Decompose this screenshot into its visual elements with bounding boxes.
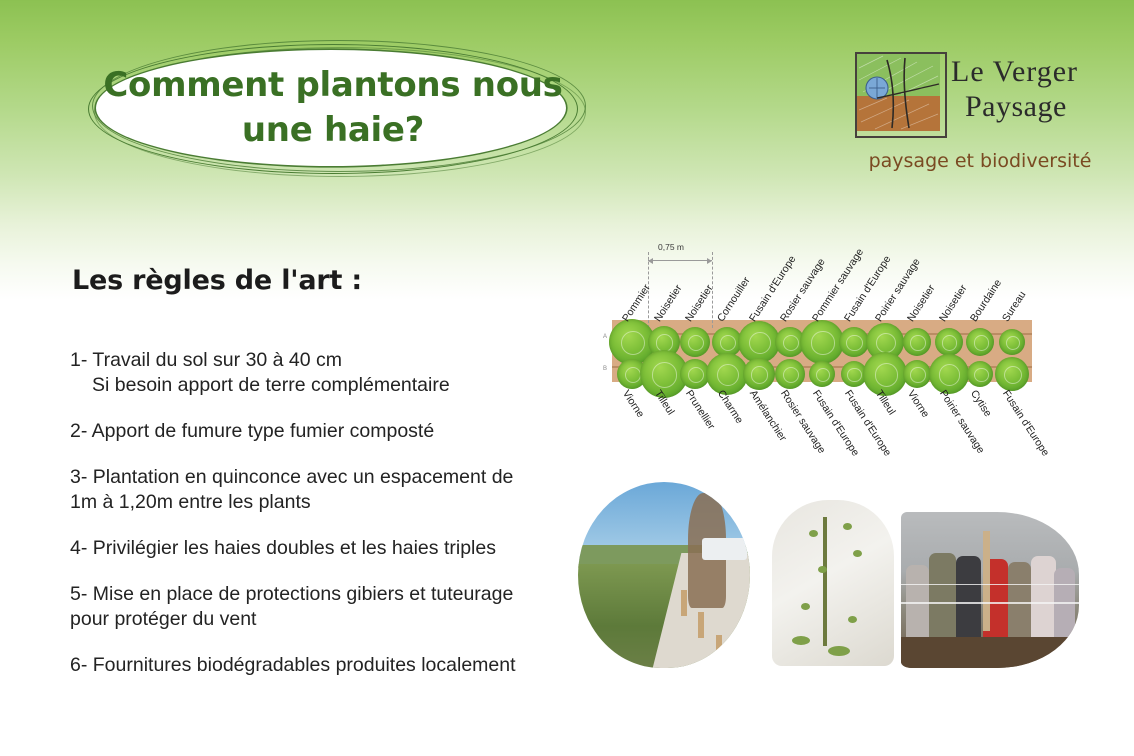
row-mark-a: A xyxy=(603,334,607,340)
photo3-fence-wire xyxy=(901,602,1079,604)
hedge-label-top: Noisetier xyxy=(937,283,970,324)
hedge-tree xyxy=(995,357,1029,391)
photo3-soil xyxy=(901,637,1079,668)
row-mark-b: B xyxy=(603,366,607,372)
brand-logo: Le Verger Paysage paysage et biodiversit… xyxy=(855,52,1105,192)
hedge-plan-diagram: A B 0,75 m PommierNoisetierNoisetierCorn… xyxy=(600,232,1060,482)
rule-item: 4- Privilégier les haies doubles et les … xyxy=(70,536,540,561)
rule-item: 6- Fournitures biodégradables produites … xyxy=(70,653,540,678)
hedge-label-top: Noisetier xyxy=(651,283,684,324)
rule-item: 2- Apport de fumure type fumier composté xyxy=(70,419,540,444)
photo2-foliage xyxy=(792,636,810,645)
hedge-tree xyxy=(706,353,748,395)
rule-main: 2- Apport de fumure type fumier composté xyxy=(70,420,434,442)
photo2-leaf xyxy=(848,616,857,623)
hedge-tree xyxy=(800,320,844,364)
logo-tagline: paysage et biodiversité xyxy=(855,150,1105,172)
hedge-tree xyxy=(903,360,931,388)
rule-main: 3- Plantation en quinconce avec un espac… xyxy=(70,466,513,513)
scale-label: 0,75 m xyxy=(658,242,684,252)
photo1-stake xyxy=(698,612,704,638)
hedge-tree xyxy=(967,361,993,387)
hedge-tree xyxy=(839,327,869,357)
hedge-label-bottom: Cytise xyxy=(968,388,994,419)
rule-main: 5- Mise en place de protections gibiers … xyxy=(70,583,513,630)
logo-orchard-svg xyxy=(857,54,940,131)
hedge-label-bottom: Viorne xyxy=(620,388,646,420)
rules-list: 1- Travail du sol sur 30 à 40 cm Si beso… xyxy=(70,348,540,699)
rule-item: 5- Mise en place de protections gibiers … xyxy=(70,582,540,632)
hedge-tree xyxy=(738,321,780,363)
hedge-tree xyxy=(903,328,931,356)
scale-arrow xyxy=(648,260,712,261)
logo-wordmark: Le Verger Paysage xyxy=(951,54,1111,125)
hedge-tree xyxy=(929,354,969,394)
photo3-spade xyxy=(983,531,990,631)
logo-name-line-2: Paysage xyxy=(951,89,1111,124)
photo-hedge-planting-row xyxy=(578,482,750,668)
photo3-child xyxy=(929,553,956,650)
hedge-label-top: Noisetier xyxy=(683,283,716,324)
hedge-label-top: Noisetier xyxy=(905,283,938,324)
page-title: Comment plantons nous une haie? xyxy=(78,38,588,178)
rule-sub: Si besoin apport de terre complémentaire xyxy=(70,373,540,398)
hedge-tree xyxy=(999,329,1025,355)
photo-schoolchildren xyxy=(901,512,1079,668)
hedge-label-bottom: Viorne xyxy=(905,388,931,420)
title-banner: Comment plantons nous une haie? xyxy=(78,38,588,178)
hedge-label-bottom: Fusain d'Europe xyxy=(1000,388,1052,458)
photo-young-shrub xyxy=(772,500,894,666)
hedge-tree xyxy=(863,352,907,396)
photo1-stake xyxy=(681,590,687,616)
scale-bar: 0,75 m xyxy=(646,240,714,276)
photo2-stem xyxy=(823,517,827,646)
rule-main: 1- Travail du sol sur 30 à 40 cm xyxy=(70,349,342,371)
photo1-van xyxy=(702,538,747,560)
rule-main: 6- Fournitures biodégradables produites … xyxy=(70,654,516,676)
photo2-leaf xyxy=(843,523,852,530)
hedge-tree xyxy=(743,358,775,390)
hedge-tree xyxy=(809,361,835,387)
photo3-fence-wire xyxy=(901,584,1079,586)
rule-main: 4- Privilégier les haies doubles et les … xyxy=(70,537,496,559)
rule-item: 3- Plantation en quinconce avec un espac… xyxy=(70,465,540,515)
title-line-2: une haie? xyxy=(242,108,424,153)
photo2-leaf xyxy=(809,530,818,537)
hedge-tree xyxy=(935,328,963,356)
hedge-tree xyxy=(775,359,805,389)
hedge-label-bottom: Prunellier xyxy=(683,388,717,432)
poster-slide: Comment plantons nous une haie? xyxy=(0,0,1134,756)
photo1-stake xyxy=(716,635,722,661)
photo2-leaf xyxy=(853,550,862,557)
hedge-label-top: Sureau xyxy=(1000,289,1029,324)
photo2-mulch xyxy=(772,500,894,666)
logo-name-line-1: Le Verger xyxy=(951,54,1111,89)
rule-item: 1- Travail du sol sur 30 à 40 cm Si beso… xyxy=(70,348,540,398)
rules-heading: Les règles de l'art : xyxy=(72,265,362,296)
logo-orchard-icon xyxy=(855,52,947,138)
title-line-1: Comment plantons nous xyxy=(103,63,562,108)
